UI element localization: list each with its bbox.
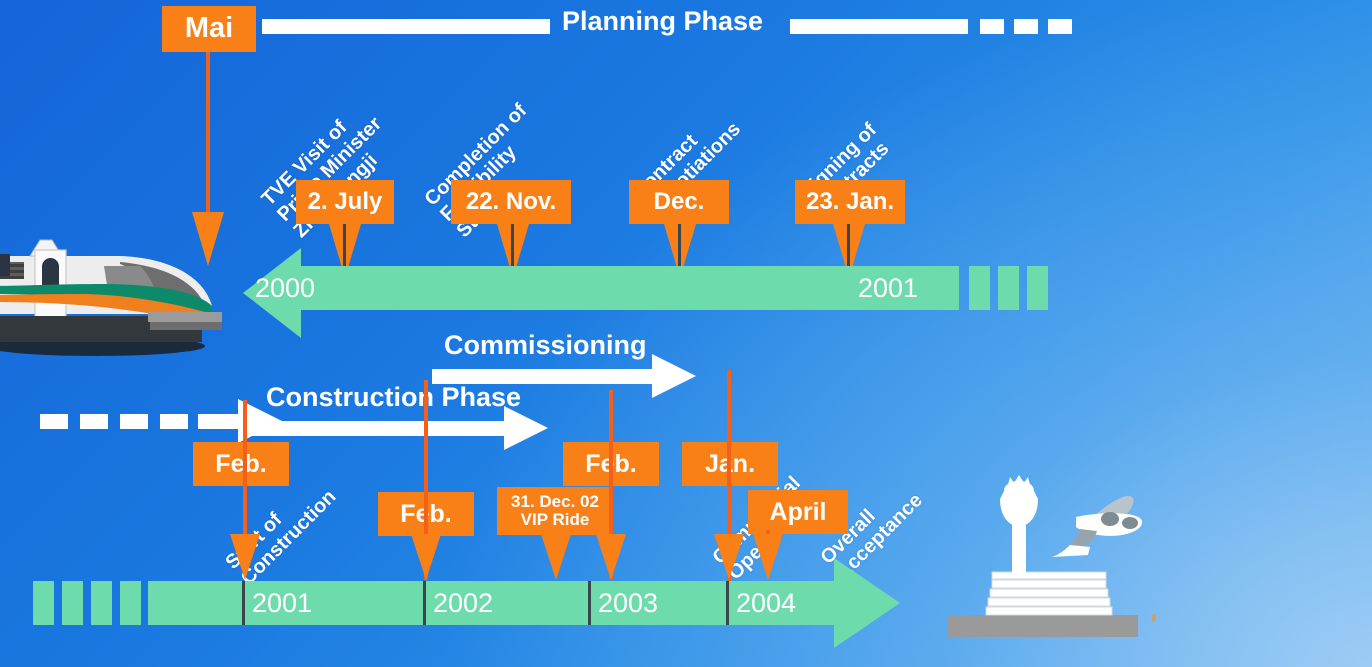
event-pointer-april-2004 [753,534,783,580]
event-pointer-vip-ride [541,534,571,580]
planning-phase-dash-2 [1014,19,1038,34]
planning-phase-dash-3 [1048,19,1072,34]
timeline-tick-2003 [588,581,591,625]
phase-title-commissioning: Commissioning [444,330,647,361]
timeline-tick-2002 [423,581,426,625]
timeline-year-2004: 2004 [736,590,796,617]
timeline-dash-bottom-4 [120,581,141,625]
construction-lead-dash-3 [120,414,148,429]
planning-phase-bar-left [262,19,550,34]
timeline-tick-2004 [726,581,729,625]
timeline-diagram: Mai Planning Phase TVE Visit of Prime Mi… [0,0,1372,667]
timeline-dash-top-3 [1027,266,1048,310]
event-box-feb-2001[interactable]: Feb. [193,442,289,486]
planning-phase-dash-1 [980,19,1004,34]
timeline-dash-bottom-1 [33,581,54,625]
event-pointer-feb-2001 [230,534,260,580]
timeline-year-2003: 2003 [598,590,658,617]
construction-lead-bar [198,414,240,429]
construction-lead-dash-2 [80,414,108,429]
event-stem-feb-2001 [243,400,247,540]
event-box-2-july[interactable]: 2. July [296,180,394,224]
event-pointer-jan-2004 [714,534,744,580]
timeline-year-2001-bottom: 2001 [252,590,312,617]
timeline-dash-top-1 [969,266,990,310]
event-box-23-jan[interactable]: 23. Jan. [795,180,905,224]
timeline-dash-bottom-2 [62,581,83,625]
timeline-year-2000: 2000 [255,275,315,302]
timeline-end-arrow-bottom [834,558,900,648]
phase-title-construction: Construction Phase [266,382,521,413]
event-pointer-feb-2002 [411,534,441,580]
phase-title-planning: Planning Phase [562,6,763,37]
planning-phase-bar-right [790,19,968,34]
timeline-dash-top-2 [998,266,1019,310]
event-box-22-nov[interactable]: 22. Nov. [451,180,571,224]
high-speed-train-icon [0,218,222,358]
timeline-dash-bottom-3 [91,581,112,625]
event-pointer-mai [192,212,224,266]
construction-lead-dash-4 [160,414,188,429]
event-box-dec[interactable]: Dec. [629,180,729,224]
commissioning-arrow-head [652,354,696,398]
event-pointer-feb-2003 [596,534,626,580]
event-box-vip-ride[interactable]: 31. Dec. 02 VIP Ride [497,487,613,535]
event-box-april-2004[interactable]: April [748,490,848,534]
construction-arrow-bar [248,421,506,436]
construction-arrow-head [504,406,548,450]
timeline-year-2001-top: 2001 [858,275,918,302]
event-stem-mai [206,52,210,224]
construction-lead-dash-1 [40,414,68,429]
commissioning-arrow-bar [432,369,654,384]
airport-tower-icon [940,455,1190,640]
event-box-mai[interactable]: Mai [162,6,256,52]
timeline-year-2002: 2002 [433,590,493,617]
timeline-tick-2001 [242,581,245,625]
